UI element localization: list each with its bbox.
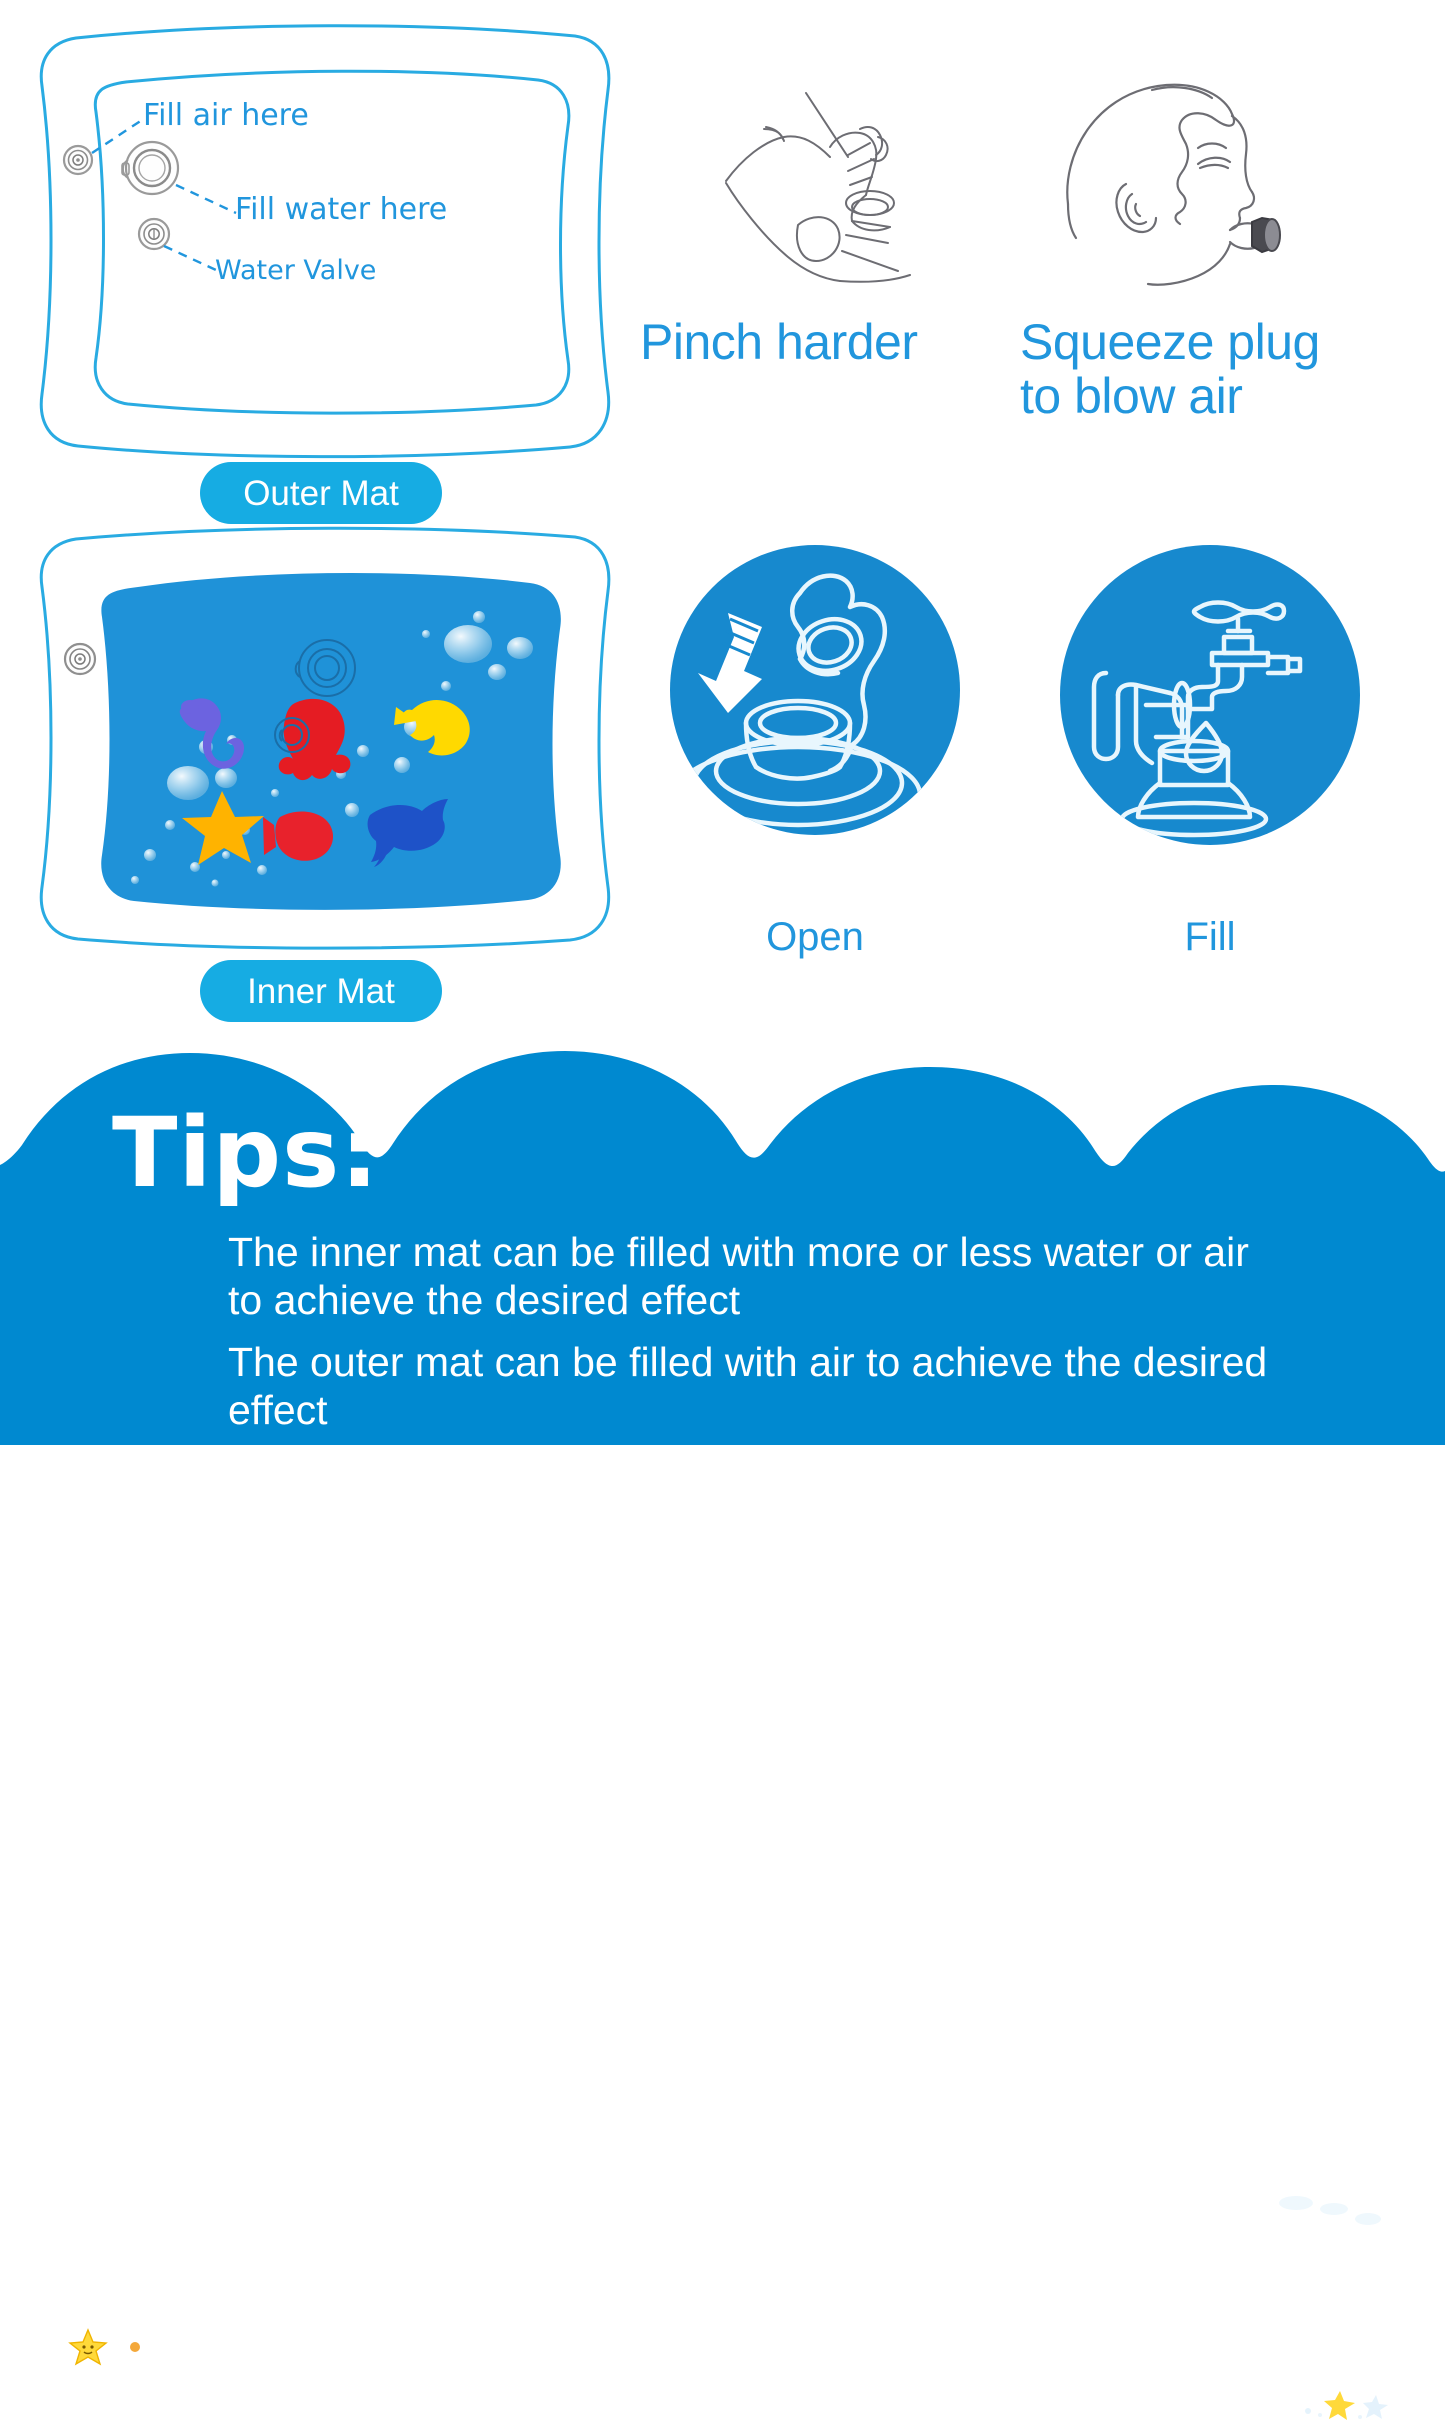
step-fill-label: Fill (1060, 915, 1360, 960)
step-pinch-label: Pinch harder (640, 315, 918, 369)
smiling-star-icon (68, 2327, 108, 2367)
step-squeeze-label: Squeeze plug to blow air (1020, 315, 1320, 423)
water-valve-icon (139, 219, 169, 249)
inner-mat-air-valve-icon (65, 644, 95, 674)
badge-inner-mat: Inner Mat (200, 960, 442, 1022)
head-blowing-plug-sketch (1040, 72, 1340, 312)
outer-mat-diagram: Fill air here Fill water here Water Valv… (30, 20, 620, 460)
water-port-icon (122, 142, 178, 194)
orange-dot-decor (130, 2342, 140, 2352)
callout-water-valve: Water Valve (215, 255, 376, 286)
faucet-fill-valve-icon (1060, 545, 1360, 845)
badge-outer-mat: Outer Mat (200, 462, 442, 524)
tip-item-outer-mat: The outer mat can be filled with air to … (228, 1338, 1268, 1435)
cloud-icon (1218, 2157, 1433, 2287)
inner-mat-diagram (30, 525, 620, 950)
tips-title: Tips: (112, 1105, 380, 1201)
sparkle-star-icon (1300, 2385, 1410, 2425)
callout-fill-air-here: Fill air here (143, 98, 309, 133)
air-valve-icon (64, 146, 92, 174)
plug-icon (1252, 218, 1280, 252)
open-valve-arrow-icon (670, 545, 960, 835)
tip-item-inner-mat: The inner mat can be filled with more or… (228, 1228, 1268, 1325)
outer-mat-outer-outline (41, 26, 609, 457)
infographic-page: Fill air here Fill water here Water Valv… (0, 0, 1445, 1445)
step-open-label: Open (670, 915, 960, 960)
callout-leader-lines (92, 120, 236, 270)
pinch-fingers-valve-sketch (720, 85, 990, 305)
callout-fill-water-here: Fill water here (235, 192, 447, 227)
